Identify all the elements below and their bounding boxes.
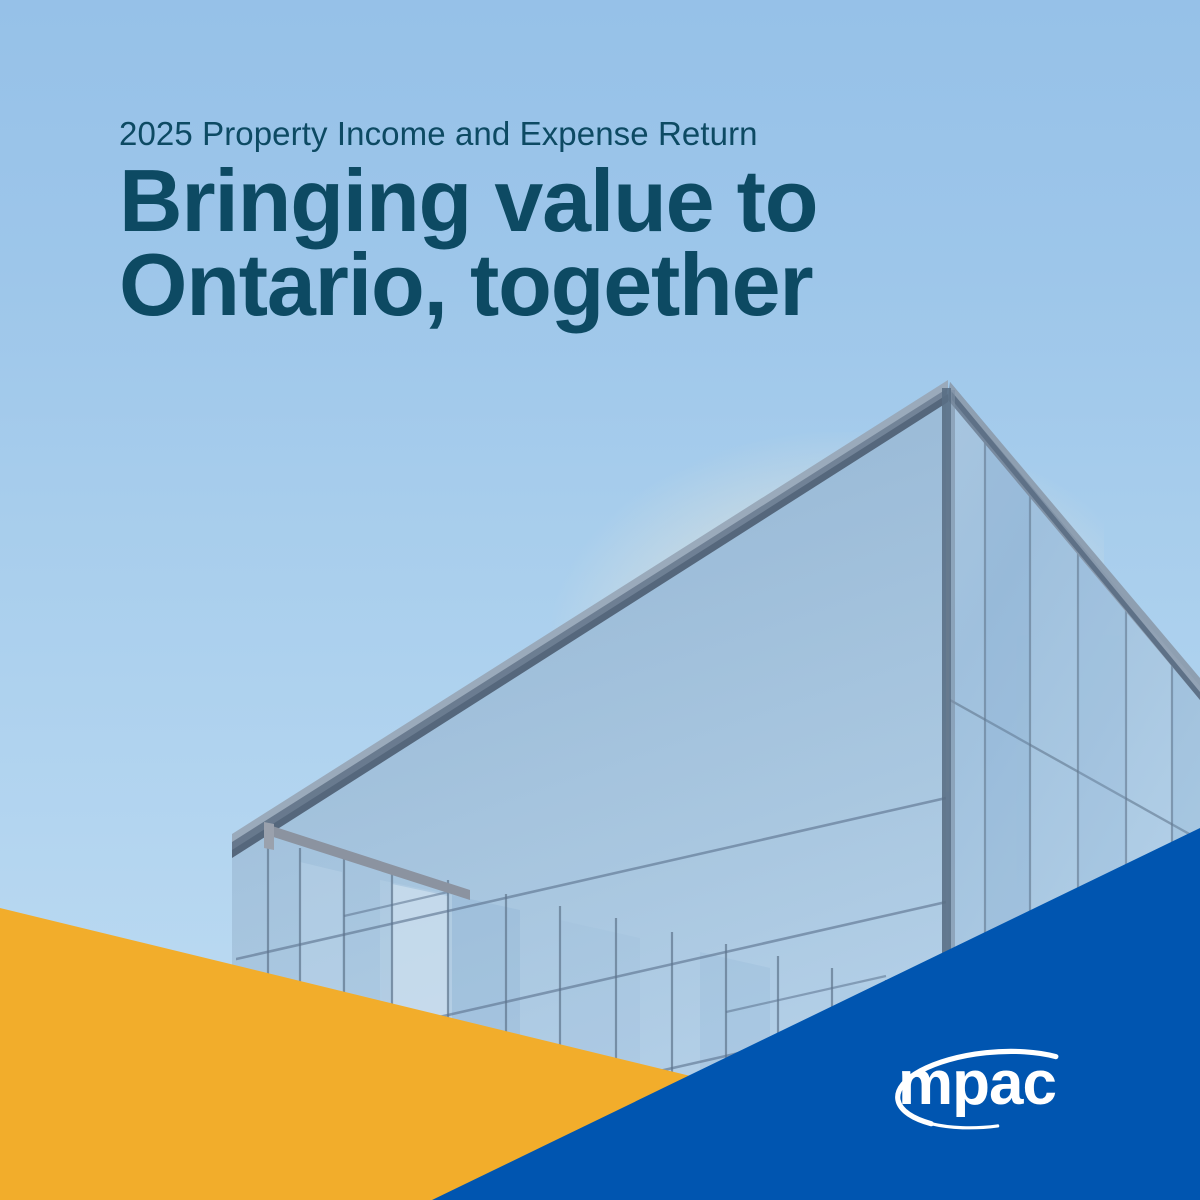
logo-wordmark: mpac <box>898 1049 1056 1118</box>
poster-canvas: 2025 Property Income and Expense Return … <box>0 0 1200 1200</box>
headline-block: 2025 Property Income and Expense Return … <box>119 116 1019 328</box>
mpac-logo: mpac <box>862 1024 1082 1146</box>
eyebrow-text: 2025 Property Income and Expense Return <box>119 116 1019 153</box>
headline-line-2: Ontario, together <box>119 243 1019 327</box>
page-title: Bringing value to Ontario, together <box>119 159 1019 328</box>
